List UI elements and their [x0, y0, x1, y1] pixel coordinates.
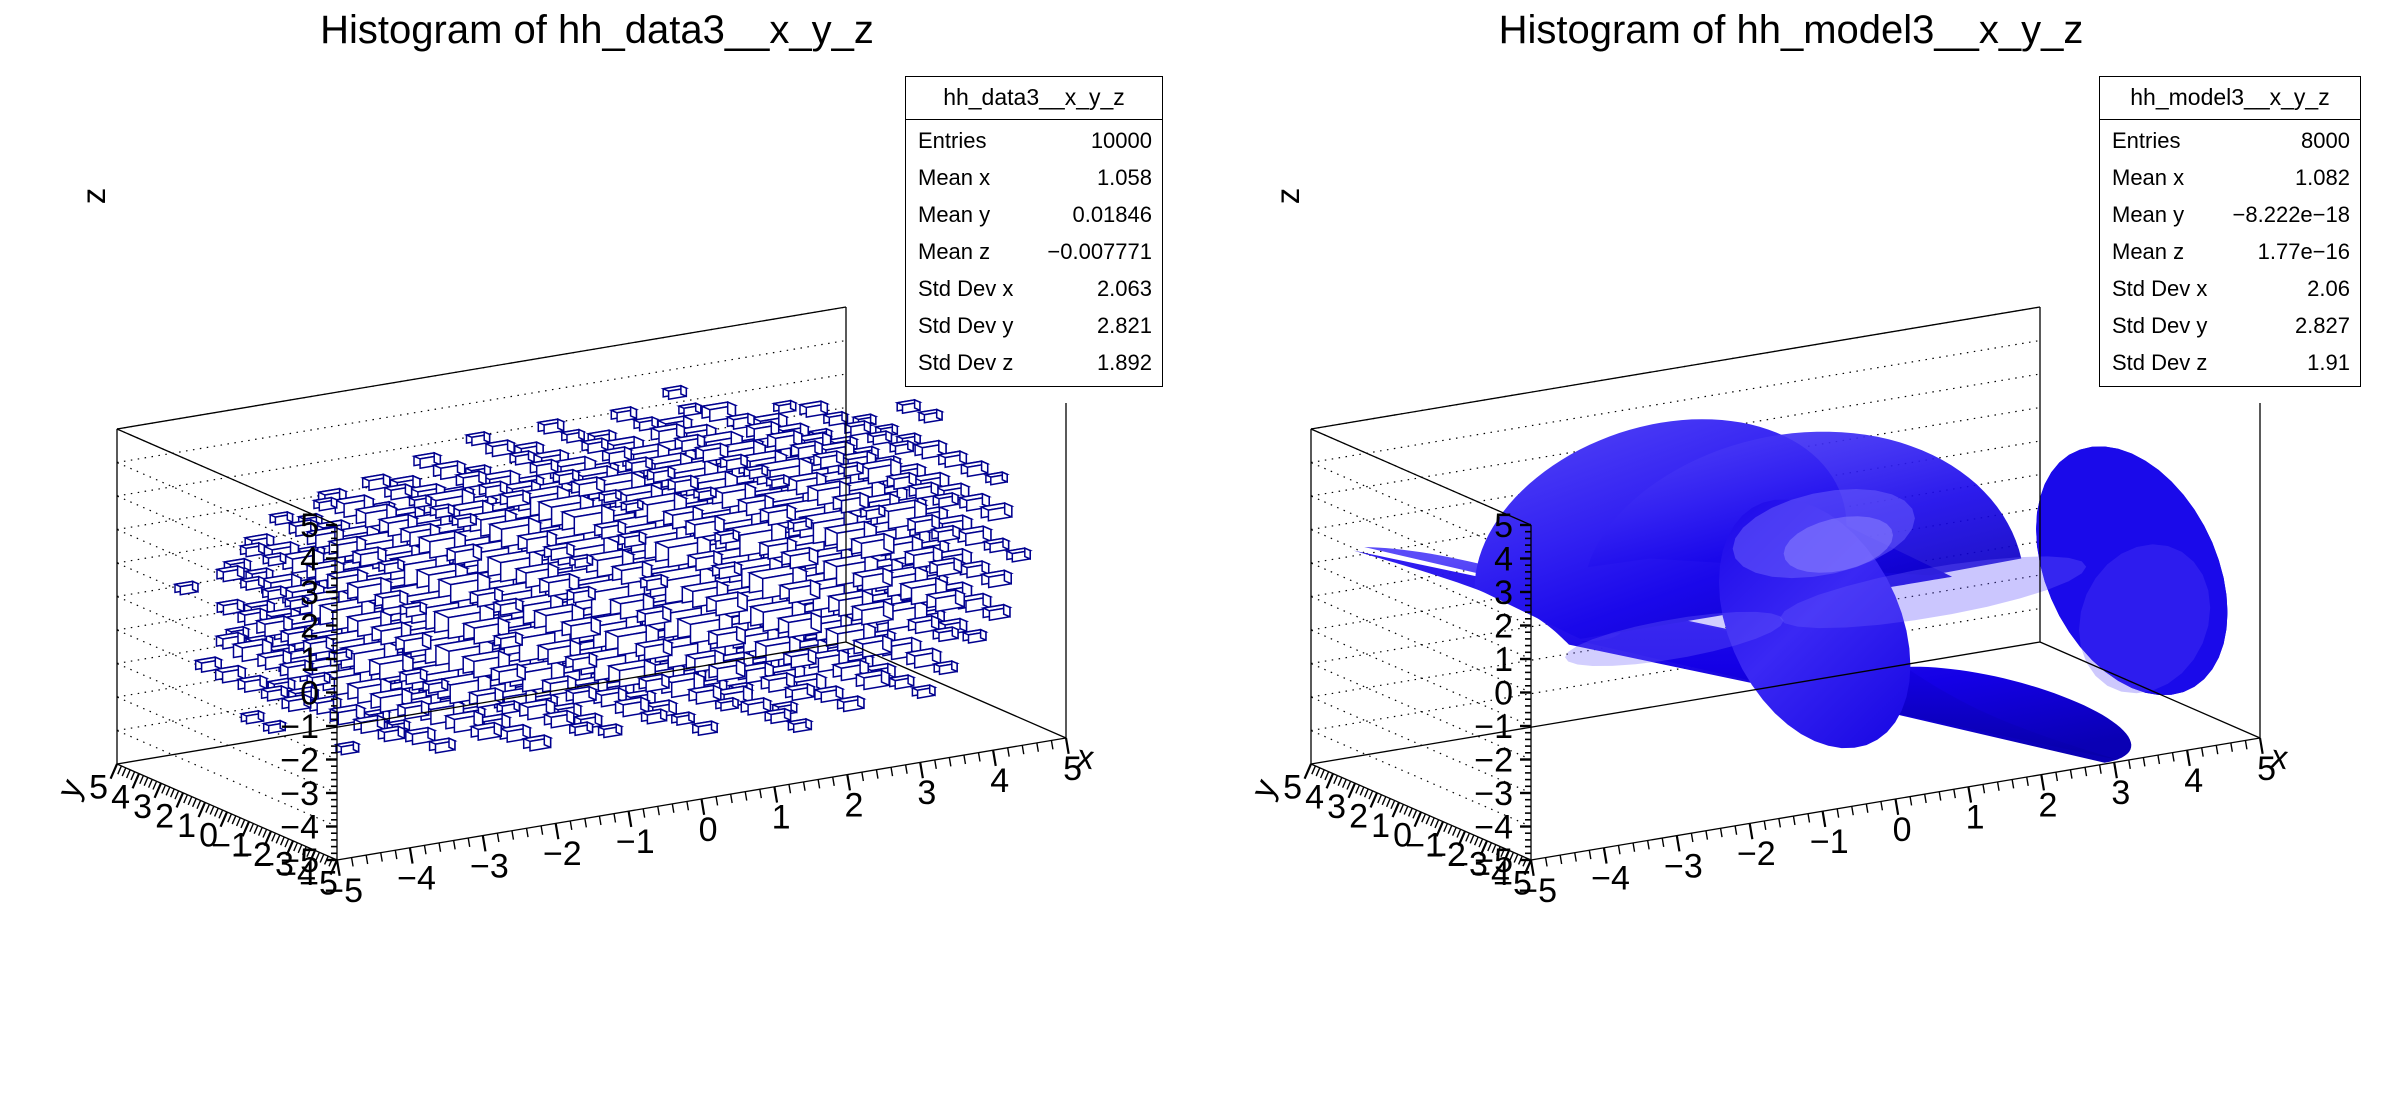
tick-label-y: 3	[133, 788, 152, 826]
box-face	[808, 649, 815, 663]
tick-x-minor	[949, 758, 950, 767]
box-marker	[471, 723, 501, 741]
tick-x-minor	[424, 845, 425, 854]
tick-label-y: 4	[111, 778, 130, 816]
stats-row: Std Dev z1.91	[2112, 345, 2350, 382]
box-face	[508, 440, 514, 453]
stats-row: Mean z1.77e−16	[2112, 234, 2350, 271]
tick-x-minor	[1852, 806, 1853, 815]
stats-row: Std Dev x2.063	[918, 271, 1152, 308]
box-face	[638, 500, 643, 510]
tick-x-minor	[1998, 782, 1999, 791]
stats-row: Entries8000	[2112, 123, 2350, 160]
box-face	[886, 431, 891, 442]
tick-label-x: 3	[917, 774, 936, 812]
tick-y-minor	[1448, 825, 1452, 833]
tick-y-minor	[140, 776, 144, 784]
box-face	[932, 616, 939, 630]
tick-x-minor	[439, 843, 440, 852]
box-face	[982, 561, 989, 574]
tick-y-minor	[149, 779, 153, 787]
box-face	[567, 711, 574, 724]
box-marker	[912, 685, 935, 698]
box-face	[288, 678, 294, 690]
stats-value: 2.827	[2295, 313, 2350, 339]
box-face	[579, 430, 584, 440]
tick-y-minor	[206, 804, 210, 812]
tick-y-minor	[197, 800, 201, 808]
box-marker	[639, 674, 669, 691]
tick-x-minor	[1910, 797, 1911, 806]
stats-title-right: hh_model3__x_y_z	[2100, 77, 2360, 120]
box-face	[378, 716, 385, 730]
tick-x-minor	[1022, 745, 1023, 754]
tick-x-minor	[1560, 855, 1561, 864]
tick-label-x: −5	[1518, 872, 1557, 910]
box-face	[884, 534, 894, 553]
box-face	[591, 617, 600, 634]
box-face	[983, 594, 990, 608]
box-face	[400, 591, 407, 606]
tick-x-minor	[1793, 816, 1794, 825]
box-face	[931, 482, 938, 495]
tick-y-minor	[215, 808, 219, 816]
tick-y-minor	[1316, 768, 1320, 776]
box-marker	[336, 742, 359, 755]
box-marker	[933, 627, 958, 641]
box-face	[501, 481, 507, 493]
tick-x-minor	[512, 831, 513, 840]
stats-key: Mean z	[918, 239, 1008, 265]
tick-x-minor	[2202, 748, 2203, 757]
box-face	[733, 530, 739, 541]
stats-value: 10000	[1091, 128, 1152, 154]
tick-y-minor	[1369, 791, 1373, 799]
box-face	[428, 728, 435, 741]
box-face	[641, 697, 649, 712]
box-face	[280, 553, 285, 563]
box-face	[426, 495, 431, 505]
tick-label-z: −1	[1474, 708, 1513, 746]
box-face	[806, 719, 811, 729]
tick-x-minor	[687, 801, 688, 810]
tick-label-x: 0	[699, 811, 718, 849]
tick-y-minor	[193, 799, 197, 807]
box-face	[215, 657, 221, 669]
box-face	[664, 639, 672, 655]
box-face	[1005, 503, 1012, 517]
tick-label-y: 3	[1327, 788, 1346, 826]
tick-label-x: −1	[1810, 823, 1849, 861]
box-marker	[838, 696, 864, 711]
box-face	[558, 419, 564, 431]
box-marker	[385, 484, 412, 500]
tick-x-minor	[2056, 772, 2057, 781]
box-face	[764, 698, 771, 711]
box-face	[937, 410, 942, 420]
tick-label-z: 2	[300, 608, 319, 646]
box-face	[738, 592, 747, 610]
box-face	[909, 473, 916, 486]
tick-x-minor	[2143, 758, 2144, 767]
tick-x-minor	[1925, 794, 1926, 803]
box-marker	[897, 400, 920, 413]
tick-x-minor	[1837, 809, 1838, 818]
tick-label-z: 5	[1494, 507, 1513, 545]
box-marker	[599, 724, 622, 737]
stats-row: Std Dev z1.892	[918, 345, 1152, 382]
box-face	[960, 619, 967, 632]
tick-x-minor	[1721, 828, 1722, 837]
box-face	[954, 558, 961, 572]
tick-y-minor	[1387, 799, 1391, 807]
box-face	[733, 698, 738, 708]
tick-x-minor	[2129, 760, 2130, 769]
box-face	[442, 679, 448, 690]
tick-y-minor	[1404, 806, 1408, 814]
box-face	[495, 588, 502, 603]
tick-label-x: 4	[2184, 762, 2203, 800]
box-face	[423, 633, 431, 649]
box-face	[625, 447, 632, 460]
box-marker	[693, 721, 717, 735]
box-face	[281, 686, 287, 698]
box-face	[589, 653, 596, 667]
stats-value: 2.821	[1097, 313, 1152, 339]
tick-x-minor	[2173, 753, 2174, 762]
tick-label-z: −3	[280, 775, 319, 813]
tick-x-minor	[818, 779, 819, 788]
tick-x-minor	[381, 853, 382, 862]
box-face	[618, 521, 625, 535]
tick-y-major	[1305, 764, 1311, 779]
tick-label-z: 4	[300, 541, 319, 579]
box-face	[663, 606, 671, 621]
box-marker	[672, 712, 694, 725]
stats-row: Mean z−0.007771	[918, 234, 1152, 271]
box-face	[551, 460, 557, 472]
tick-label-x: 0	[1893, 811, 1912, 849]
box-marker	[845, 421, 870, 436]
tick-y-minor	[1409, 808, 1413, 816]
box-face	[915, 400, 920, 410]
box-marker	[241, 711, 263, 724]
box-face	[879, 506, 885, 517]
stats-key: Mean z	[2112, 239, 2202, 265]
tick-x-minor	[2027, 777, 2028, 786]
tick-x-minor	[964, 755, 965, 764]
tick-y-minor	[1431, 818, 1435, 826]
box-face	[737, 627, 745, 644]
box-marker	[378, 726, 404, 741]
box-face	[258, 711, 263, 721]
box-face	[864, 421, 870, 433]
box-marker	[788, 719, 811, 732]
box-face	[398, 726, 404, 738]
tick-x-minor	[2070, 770, 2071, 779]
box-face	[787, 505, 795, 521]
box-face	[930, 685, 935, 695]
stats-value: −0.007771	[1047, 239, 1152, 265]
tick-label-z: 0	[300, 675, 319, 713]
axis-title-z: z	[1269, 188, 1306, 205]
tick-y-minor	[131, 772, 135, 780]
box-face	[908, 441, 913, 451]
box-face	[712, 721, 718, 732]
box-face	[714, 686, 721, 700]
stats-box-left[interactable]: hh_data3__x_y_z Entries10000Mean x1.058M…	[905, 76, 1163, 387]
tick-y-minor	[228, 814, 232, 822]
box-marker	[716, 698, 738, 711]
box-marker	[961, 461, 987, 476]
box-face	[405, 484, 411, 496]
box-face	[953, 526, 959, 538]
box-marker	[824, 412, 848, 426]
tick-label-x: 2	[844, 786, 863, 824]
stats-row: Mean y−8.222e−18	[2112, 197, 2350, 234]
box-face	[484, 432, 489, 443]
tick-y-minor	[1347, 781, 1351, 789]
box-face	[871, 414, 876, 424]
box-marker	[786, 684, 814, 701]
tick-y-minor	[1444, 824, 1448, 832]
box-face	[806, 518, 811, 529]
box-face	[616, 724, 621, 734]
box-marker	[986, 472, 1007, 485]
tick-y-minor	[162, 785, 166, 793]
box-face	[616, 490, 621, 500]
tick-x-minor	[2216, 745, 2217, 754]
box-face	[952, 493, 958, 504]
box-marker	[985, 538, 1009, 552]
pad-left[interactable]: Histogram of hh_data3__x_y_z 543210−1−2−…	[0, 0, 1194, 1116]
tick-x-minor	[1691, 833, 1692, 842]
stats-rows-right: Entries8000Mean x1.082Mean y−8.222e−18Me…	[2100, 120, 2360, 386]
box-face	[589, 687, 596, 700]
box-face	[595, 713, 601, 725]
tick-x-minor	[789, 784, 790, 793]
tick-x-minor	[876, 770, 877, 779]
tick-label-x: −3	[1664, 847, 1703, 885]
tick-y-minor	[1378, 795, 1382, 803]
tick-y-minor	[250, 824, 254, 832]
tick-x-minor	[570, 821, 571, 830]
tick-x-minor	[862, 772, 863, 781]
stats-key: Std Dev z	[2112, 350, 2225, 376]
stats-value: 8000	[2301, 128, 2350, 154]
box-face	[353, 742, 358, 752]
stats-row: Std Dev y2.827	[2112, 308, 2350, 345]
tick-x-minor	[614, 814, 615, 823]
tick-label-z: −4	[1474, 809, 1513, 847]
tick-label-z: 0	[1494, 675, 1513, 713]
tick-x-minor	[658, 806, 659, 815]
tick-x-minor	[585, 819, 586, 828]
tick-y-minor	[127, 770, 131, 778]
box-face	[858, 696, 864, 708]
box-face	[661, 575, 667, 587]
tick-y-minor	[1360, 787, 1364, 795]
tick-y-minor	[1466, 833, 1470, 841]
stats-rows-left: Entries10000Mean x1.058Mean y0.01846Mean…	[906, 120, 1162, 386]
tick-y-minor	[1400, 804, 1404, 812]
stats-value: −8.222e−18	[2233, 202, 2350, 228]
tick-y-minor	[1426, 816, 1430, 824]
tick-y-minor	[1338, 777, 1342, 785]
tick-y-minor	[175, 791, 179, 799]
box-face	[983, 526, 991, 541]
tick-x-minor	[527, 828, 528, 837]
tick-label-y: 2	[155, 797, 174, 835]
axis-title-z: z	[75, 188, 112, 205]
tick-x-minor	[1866, 804, 1867, 813]
box-face	[689, 712, 694, 722]
tick-y-minor	[1514, 854, 1518, 862]
box-face	[883, 568, 892, 585]
box-face	[587, 722, 592, 732]
tick-y-minor	[232, 816, 236, 824]
box-marker	[663, 386, 686, 400]
tick-label-x: −5	[324, 872, 363, 910]
tick-x-minor	[979, 753, 980, 762]
box-face	[449, 504, 455, 515]
tick-label-z: −1	[280, 708, 319, 746]
box-face	[662, 674, 669, 688]
box-marker	[981, 503, 1012, 521]
tick-label-y: 5	[1283, 769, 1302, 807]
tick-label-x: −2	[543, 835, 582, 873]
tick-x-minor	[672, 804, 673, 813]
box-face	[661, 709, 667, 720]
tick-y-minor	[1382, 797, 1386, 805]
stats-value: 1.77e−16	[2258, 239, 2350, 265]
box-marker	[562, 430, 584, 443]
stats-box-right[interactable]: hh_model3__x_y_z Entries8000Mean x1.082M…	[2099, 76, 2361, 387]
tick-label-y: 1	[177, 807, 196, 845]
tick-x-minor	[804, 782, 805, 791]
tick-x-minor	[760, 789, 761, 798]
stats-value: 2.06	[2307, 276, 2350, 302]
box-marker	[241, 543, 265, 557]
tick-label-z: −4	[280, 809, 319, 847]
tick-label-z: 2	[1494, 608, 1513, 646]
tick-x-minor	[935, 760, 936, 769]
box-face	[238, 600, 244, 612]
tick-x-minor	[716, 797, 717, 806]
tick-label-y: 2	[1349, 797, 1368, 835]
tick-x-minor	[599, 816, 600, 825]
tick-x-minor	[395, 850, 396, 859]
stats-row: Mean x1.082	[2112, 160, 2350, 197]
box-face	[836, 686, 842, 699]
stats-key: Std Dev y	[2112, 313, 2225, 339]
box-marker	[774, 401, 796, 414]
box-marker	[982, 570, 1011, 587]
tick-x-minor	[891, 767, 892, 776]
tick-x-minor	[1633, 843, 1634, 852]
box-face	[860, 493, 868, 509]
box-marker	[1007, 548, 1030, 562]
tick-x-minor	[1575, 853, 1576, 862]
tick-x-minor	[2158, 755, 2159, 764]
box-face	[892, 424, 897, 434]
tick-label-x: 2	[2038, 786, 2057, 824]
stats-key: Std Dev x	[918, 276, 1031, 302]
pad-right[interactable]: Histogram of hh_model3__x_y_z 543210−1−2…	[1194, 0, 2388, 1116]
tick-y-minor	[1321, 770, 1325, 778]
box-marker	[241, 577, 264, 591]
box-face	[421, 669, 427, 681]
stats-key: Entries	[918, 128, 1004, 154]
stats-key: Std Dev y	[918, 313, 1031, 339]
box-marker	[538, 419, 563, 434]
tick-label-z: 3	[1494, 574, 1513, 612]
tick-x-minor	[1735, 826, 1736, 835]
box-face	[260, 676, 267, 689]
tick-x-minor	[541, 826, 542, 835]
box-face	[494, 723, 501, 737]
box-face	[587, 555, 592, 565]
tick-x-minor	[1779, 819, 1780, 828]
tick-y-minor	[184, 795, 188, 803]
box-face	[517, 664, 525, 679]
box-face	[652, 417, 658, 428]
box-marker	[611, 407, 636, 422]
stats-key: Mean y	[2112, 202, 2202, 228]
box-face	[933, 648, 941, 663]
box-face	[982, 461, 988, 473]
box-face	[1004, 570, 1011, 583]
box-face	[514, 701, 519, 711]
box-face	[287, 512, 292, 522]
tick-x-minor	[2012, 779, 2013, 788]
tick-x-minor	[468, 838, 469, 847]
tick-y-minor	[1391, 800, 1395, 808]
box-face	[952, 627, 958, 638]
box-face	[837, 451, 844, 465]
stats-value: 2.063	[1097, 276, 1152, 302]
stats-key: Mean x	[918, 165, 1008, 191]
tick-label-y: 5	[89, 769, 108, 807]
tick-y-minor	[320, 854, 324, 862]
tick-x-minor	[1954, 789, 1955, 798]
tick-x-minor	[2245, 740, 2246, 749]
box-face	[639, 532, 645, 544]
tick-x-minor	[352, 858, 353, 867]
box-face	[516, 632, 522, 645]
tick-label-z: −2	[1474, 742, 1513, 780]
box-marker	[679, 403, 701, 416]
tick-x-minor	[366, 855, 367, 864]
tick-y-minor	[1453, 827, 1457, 835]
tick-x-minor	[1051, 740, 1052, 749]
stats-row: Mean x1.058	[918, 160, 1152, 197]
box-face	[479, 471, 486, 484]
tick-label-x: −4	[1591, 860, 1630, 898]
tick-x-minor	[497, 833, 498, 842]
tick-x-minor	[731, 794, 732, 803]
box-face	[449, 738, 455, 750]
box-face	[785, 709, 791, 721]
tick-y-minor	[118, 766, 122, 774]
box-face	[602, 438, 608, 450]
box-face	[1004, 605, 1010, 617]
stats-value: 1.91	[2307, 350, 2350, 376]
stats-row: Std Dev x2.06	[2112, 271, 2350, 308]
tick-label-x: −3	[470, 847, 509, 885]
box-face	[238, 566, 244, 578]
tick-x-minor	[1037, 743, 1038, 752]
